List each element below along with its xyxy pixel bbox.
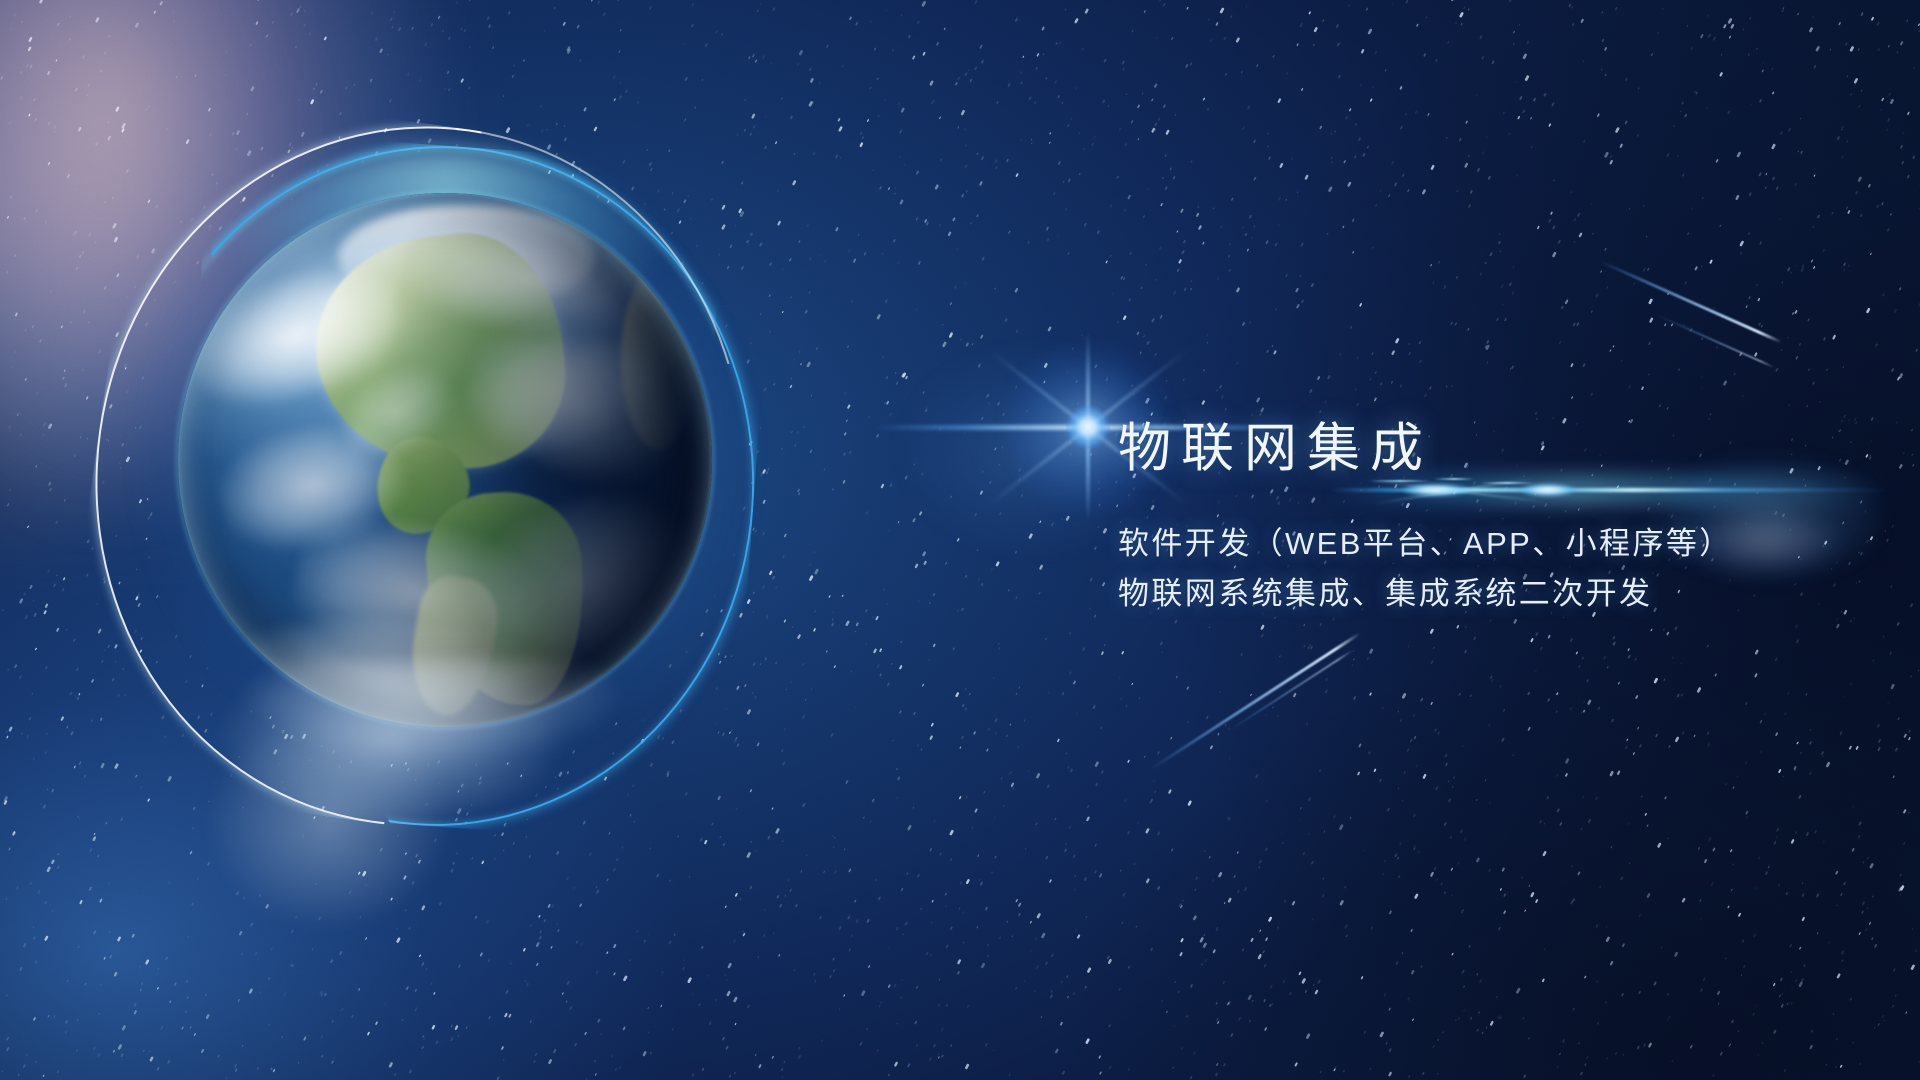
banner-subtitle-line-1: 软件开发（WEB平台、APP、小程序等） <box>1118 519 1878 569</box>
page-title: 物联网集成 <box>1118 420 1878 477</box>
banner-subtitle-line-2: 物联网系统集成、集成系统二次开发 <box>1118 569 1878 619</box>
banner-subtitle-list: 软件开发（WEB平台、APP、小程序等） 物联网系统集成、集成系统二次开发 <box>1118 519 1878 619</box>
banner-stage: 物联网集成 软件开发（WEB平台、APP、小程序等） 物联网系统集成、集成系统二… <box>0 0 1920 1080</box>
globe-rim-cyan <box>176 191 714 729</box>
earth-globe <box>178 193 712 727</box>
banner-text-block: 物联网集成 软件开发（WEB平台、APP、小程序等） 物联网系统集成、集成系统二… <box>1118 420 1878 620</box>
